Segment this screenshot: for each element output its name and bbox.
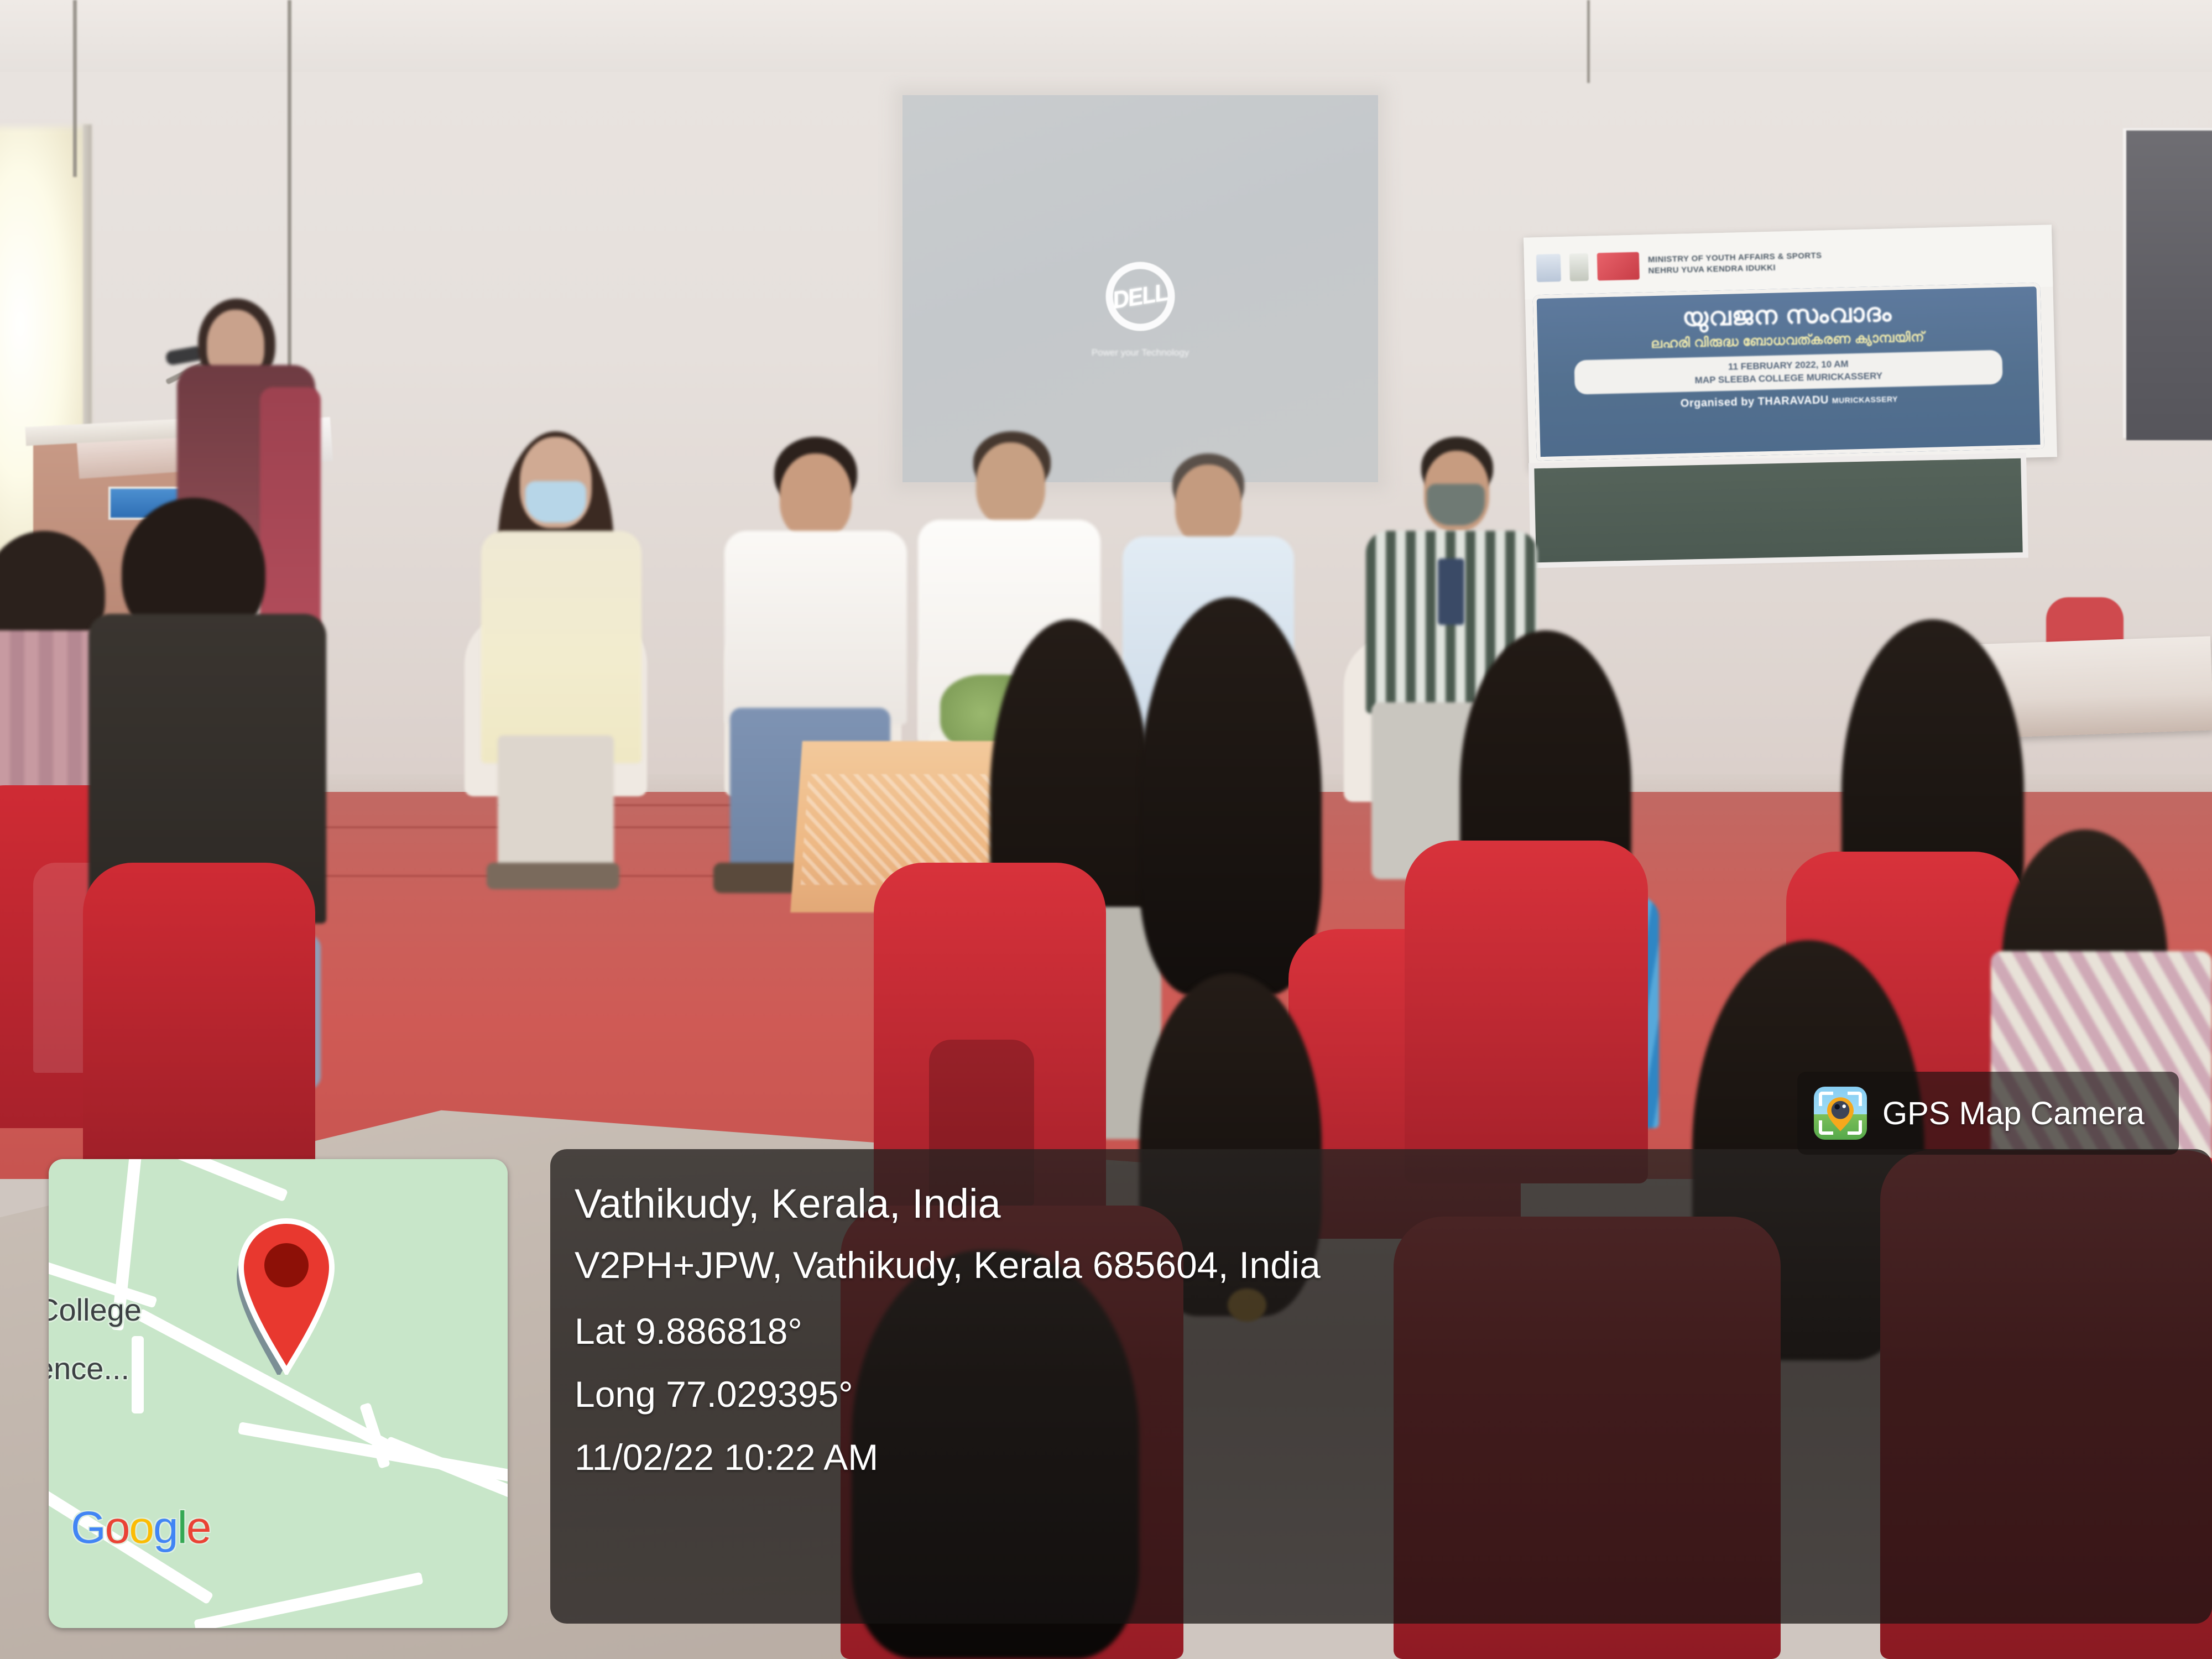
banner-organiser-name: THARAVADU — [1757, 394, 1829, 408]
map-thumbnail[interactable]: College ence... Google — [49, 1159, 508, 1628]
google-letter-o1: o — [105, 1503, 129, 1553]
gps-timestamp: 11/02/22 10:22 AM — [575, 1439, 2212, 1475]
banner-logo-emblem — [1536, 254, 1561, 282]
hall-ceiling — [0, 0, 2212, 72]
google-letter-g2: g — [153, 1503, 178, 1553]
panelist-1-footwear — [487, 863, 619, 889]
ceiling-cable-2 — [73, 0, 77, 177]
gps-map-camera-label: GPS Map Camera — [1882, 1095, 2145, 1132]
map-road-9 — [194, 1572, 423, 1628]
banner-organiser-suffix: MURICKASSERY — [1832, 394, 1898, 405]
google-letter-g1: G — [71, 1503, 105, 1553]
panelist-1-face-mask — [525, 481, 586, 523]
event-banner: MINISTRY OF YOUTH AFFAIRS & SPORTS NEHRU… — [1524, 225, 2057, 469]
google-logo: Google — [71, 1502, 210, 1554]
banner-logo-ashoka — [1569, 253, 1589, 281]
ceiling-cable-1 — [288, 0, 291, 387]
projector-screen: DELL Power your Technology — [902, 95, 1378, 482]
dell-wordmark: DELL — [1113, 278, 1167, 315]
audience-chair-5 — [1405, 841, 1648, 1183]
ceiling-cable-3 — [1587, 0, 1590, 83]
banner-organiser-prefix: Organised by — [1681, 395, 1755, 409]
panelist-5-lanyard — [1438, 559, 1464, 625]
banner-logo-nyks — [1597, 252, 1640, 281]
google-letter-e: e — [186, 1503, 211, 1553]
upper-right-dark-panel — [2126, 131, 2212, 440]
audience-head-4 — [1139, 597, 1322, 995]
gps-info-panel: Vathikudy, Kerala, India V2PH+JPW, Vathi… — [550, 1149, 2212, 1624]
map-label-science: ence... — [49, 1350, 129, 1386]
panelist-2-torso — [724, 531, 907, 724]
google-letter-o2: o — [129, 1503, 153, 1553]
audience-chair-2 — [83, 863, 315, 1172]
dell-tagline: Power your Technology — [1092, 347, 1189, 358]
photo-canvas: DELL Power your Technology MINISTRY OF Y… — [0, 0, 2212, 1659]
map-label-college: College — [49, 1292, 142, 1328]
gps-address: V2PH+JPW, Vathikudy, Kerala 685604, Indi… — [575, 1246, 2212, 1284]
panelist-4-head — [1175, 465, 1241, 545]
gps-longitude: Long 77.029395° — [575, 1376, 2212, 1412]
panelist-5-face-mask — [1427, 484, 1485, 525]
banner-title: യുവജന സംവാദം — [1547, 296, 2027, 333]
panelist-3-head — [976, 442, 1045, 525]
banner-details-strip: 11 FEBRUARY 2022, 10 AM MAP SLEEBA COLLE… — [1574, 350, 2002, 395]
banner-ministry-text: MINISTRY OF YOUTH AFFAIRS & SPORTS NEHRU… — [1648, 250, 1822, 276]
google-letter-l: l — [178, 1503, 186, 1553]
gps-place-name: Vathikudy, Kerala, India — [575, 1183, 2212, 1224]
banner-body: യുവജന സംവാദം ലഹരി വിരുദ്ധ ബോധവത്കരണ ക്യാ… — [1533, 283, 2044, 461]
gps-map-camera-app-icon — [1814, 1087, 1867, 1140]
blackboard — [1534, 458, 2022, 562]
map-road-2 — [130, 1159, 288, 1202]
gps-latitude: Lat 9.886818° — [575, 1313, 2212, 1349]
panelist-1-torso — [481, 531, 641, 763]
dell-logo-icon: DELL — [1106, 262, 1175, 331]
gps-map-camera-badge[interactable]: GPS Map Camera — [1797, 1072, 2179, 1155]
panelist-2-head — [780, 453, 852, 539]
map-road-4 — [132, 1336, 144, 1413]
map-pin-icon — [231, 1214, 342, 1375]
